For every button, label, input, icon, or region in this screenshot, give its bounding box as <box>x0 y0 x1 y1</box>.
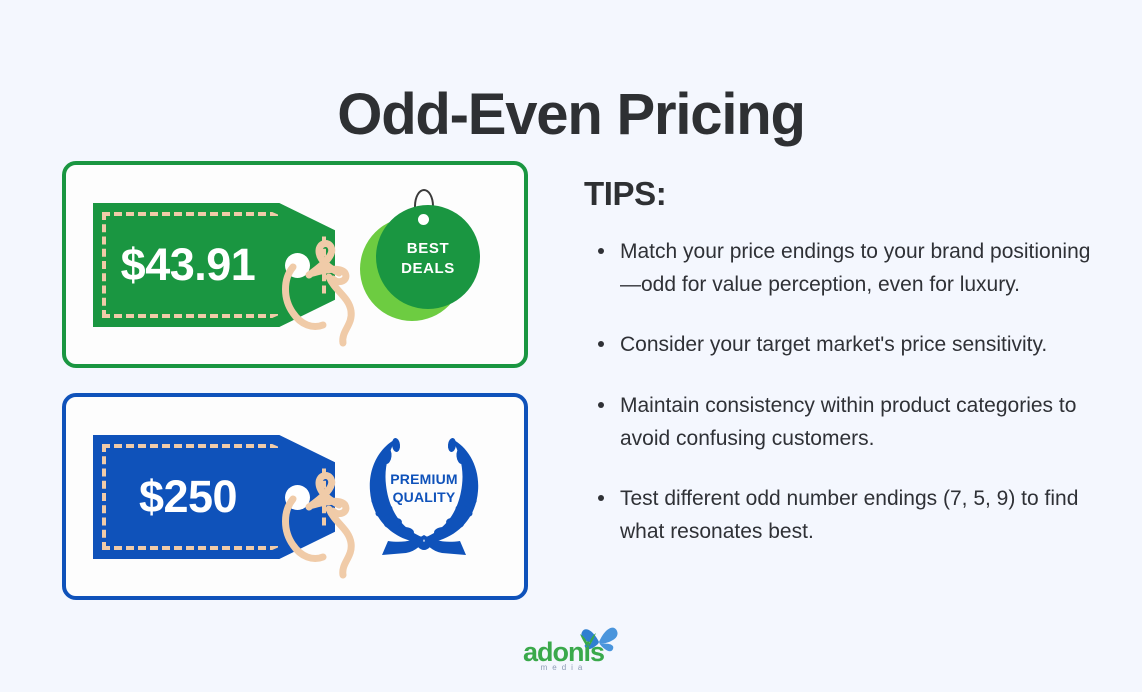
price-card-even: $250 <box>62 393 528 600</box>
tips-list-item: Maintain consistency within product cate… <box>584 389 1104 455</box>
wreath-label-line1: PREMIUM <box>362 471 486 489</box>
infographic-page: Odd-Even Pricing $43.91 <box>0 0 1142 692</box>
price-tag-odd: $43.91 <box>93 203 343 327</box>
seal-label-line1: BEST <box>376 239 480 259</box>
price-tag-even: $250 <box>93 435 343 559</box>
adonis-media-logo: adonis media <box>523 624 619 676</box>
seal-punch-hole <box>418 214 429 225</box>
premium-quality-wreath-icon: PREMIUM QUALITY <box>362 431 486 559</box>
price-card-odd: $43.91 BEST DEALS <box>62 161 528 368</box>
tips-list-item: Match your price endings to your brand p… <box>584 235 1104 301</box>
tips-heading: TIPS: <box>584 175 1104 213</box>
footer: adonis media <box>0 624 1142 676</box>
tips-list: Match your price endings to your brand p… <box>584 235 1104 548</box>
badge-slot-premium-quality: PREMIUM QUALITY <box>360 423 490 568</box>
price-value: $43.91 <box>93 203 283 327</box>
logo-subtext: media <box>526 664 602 672</box>
wreath-label: PREMIUM QUALITY <box>362 471 486 506</box>
seal-label-line2: DEALS <box>376 259 480 279</box>
wreath-label-line2: QUALITY <box>362 489 486 507</box>
price-card-list: $43.91 BEST DEALS <box>62 161 528 600</box>
best-deals-seal-icon: BEST DEALS <box>360 205 480 325</box>
badge-slot-best-deals: BEST DEALS <box>360 191 490 336</box>
seal-label: BEST DEALS <box>376 239 480 279</box>
page-title: Odd-Even Pricing <box>0 83 1142 147</box>
price-value: $250 <box>93 435 283 559</box>
logo-wordmark: adonis <box>523 639 601 666</box>
tips-section: TIPS: Match your price endings to your b… <box>584 175 1104 548</box>
tips-list-item: Consider your target market's price sens… <box>584 328 1104 361</box>
tips-list-item: Test different odd number endings (7, 5,… <box>584 482 1104 548</box>
